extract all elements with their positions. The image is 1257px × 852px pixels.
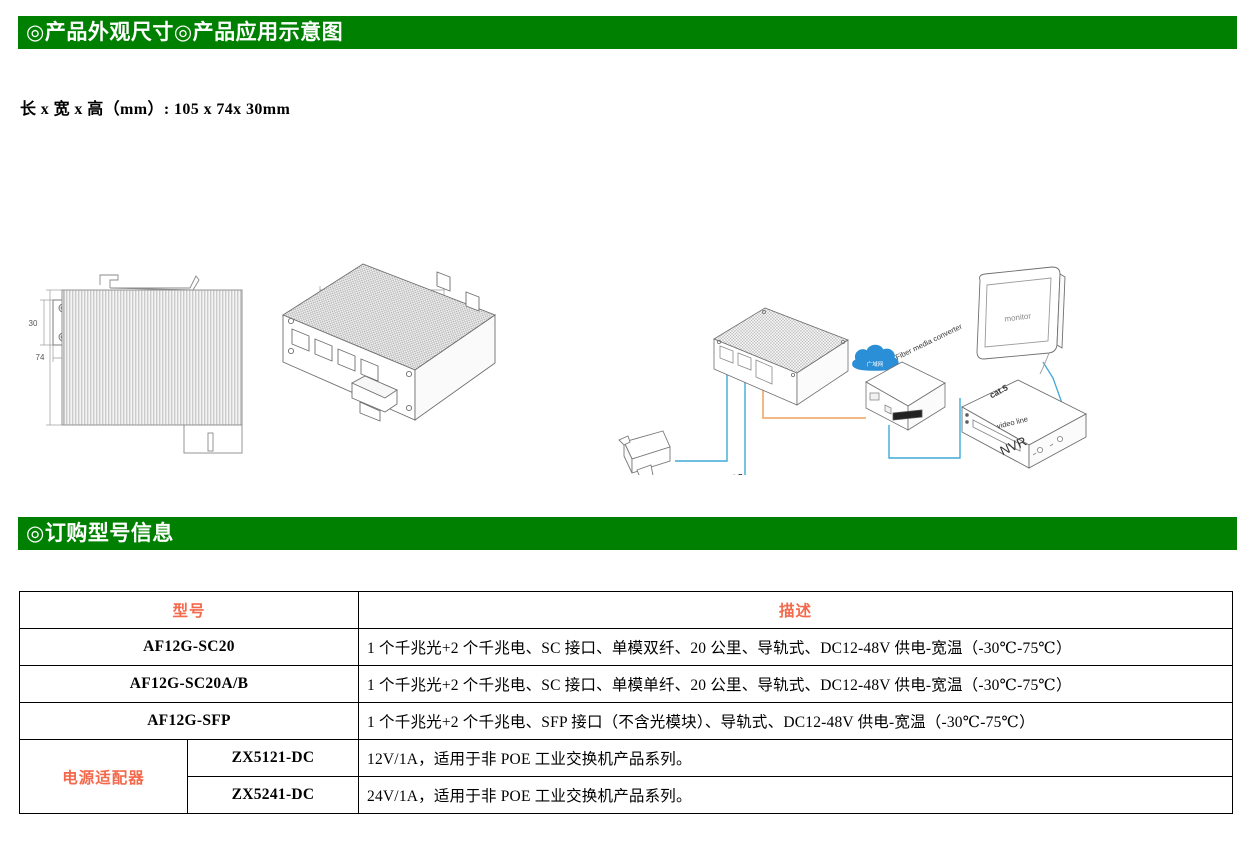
model-name: AF12G-SC20A/B: [20, 666, 359, 703]
adapter-description: 12V/1A，适用于非 POE 工业交换机产品系列。: [359, 740, 1233, 777]
drawing-isometric-view: [283, 264, 495, 421]
adapter-model: ZX5241-DC: [188, 777, 359, 814]
front-view-height-label: 30: [29, 319, 38, 328]
table-header-row: 型号 描述: [20, 592, 1233, 629]
model-name: AF12G-SC20: [20, 629, 359, 666]
cloud-label: 广域网: [867, 360, 884, 368]
device-switch: [714, 308, 848, 405]
adapter-model: ZX5121-DC: [188, 740, 359, 777]
drawing-top-view: 74: [36, 275, 242, 453]
table-row: AF12G-SC20A/B 1 个千兆光+2 个千兆电、SC 接口、单模单纤、2…: [20, 666, 1233, 703]
application-diagram: 广域网 Fiber media converter monitor: [616, 267, 1086, 475]
adapter-group-label: 电源适配器: [20, 740, 188, 814]
model-name: AF12G-SFP: [20, 703, 359, 740]
device-box-camera: [619, 431, 670, 475]
table-row: ZX5241-DC 24V/1A，适用于非 POE 工业交换机产品系列。: [20, 777, 1233, 814]
adapter-description: 24V/1A，适用于非 POE 工业交换机产品系列。: [359, 777, 1233, 814]
device-media-converter: [866, 362, 945, 430]
top-view-height-label: 74: [36, 353, 45, 362]
header-description: 描述: [359, 592, 1233, 629]
model-description: 1 个千兆光+2 个千兆电、SC 接口、单模单纤、20 公里、导轨式、DC12-…: [359, 666, 1233, 703]
dimension-caption: 长 x 宽 x 高（mm）: 105 x 74x 30mm: [20, 95, 290, 119]
table-row: 电源适配器 ZX5121-DC 12V/1A，适用于非 POE 工业交换机产品系…: [20, 740, 1233, 777]
section-banner-ordering: ◎订购型号信息: [18, 517, 1237, 550]
table-row: AF12G-SC20 1 个千兆光+2 个千兆电、SC 接口、单模双纤、20 公…: [20, 629, 1233, 666]
section-banner-appearance: ◎产品外观尺寸◎产品应用示意图: [18, 16, 1237, 49]
header-model: 型号: [20, 592, 359, 629]
label-cat5-left: cat.5: [723, 472, 743, 475]
cloud-wan: 广域网: [853, 345, 899, 370]
model-description: 1 个千兆光+2 个千兆电、SC 接口、单模双纤、20 公里、导轨式、DC12-…: [359, 629, 1233, 666]
model-description: 1 个千兆光+2 个千兆电、SFP 接口（不含光模块）、导轨式、DC12-48V…: [359, 703, 1233, 740]
table-row: AF12G-SFP 1 个千兆光+2 个千兆电、SFP 接口（不含光模块）、导轨…: [20, 703, 1233, 740]
product-drawings-svg: 30 105 74: [0, 130, 1257, 475]
drawings-area: 30 105 74: [0, 130, 1257, 475]
label-fiber-media-converter: Fiber media converter: [894, 322, 964, 362]
ordering-information-table: 型号 描述 AF12G-SC20 1 个千兆光+2 个千兆电、SC 接口、单模双…: [19, 591, 1233, 814]
